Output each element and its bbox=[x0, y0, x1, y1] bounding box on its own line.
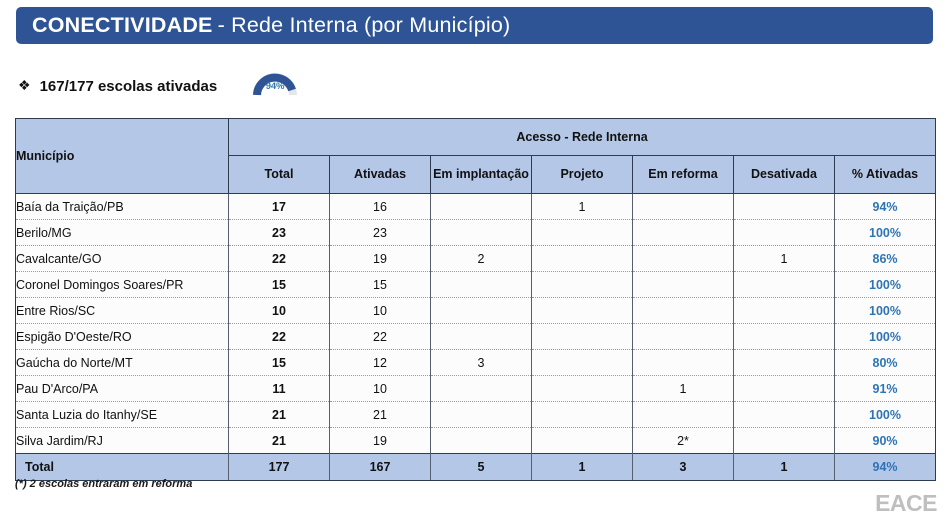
cell-em-implantacao: 2 bbox=[431, 246, 532, 272]
table-row[interactable]: Entre Rios/SC1010100% bbox=[16, 298, 936, 324]
gauge-label: 94% bbox=[252, 81, 298, 92]
diamond-bullet-icon: ❖ bbox=[18, 78, 31, 92]
cell-total: 10 bbox=[229, 298, 330, 324]
cell-ativadas: 19 bbox=[330, 428, 431, 454]
total-cell-em-implantacao: 5 bbox=[431, 454, 532, 481]
cell-total: 23 bbox=[229, 220, 330, 246]
cell-total: 22 bbox=[229, 324, 330, 350]
col-header-desativada[interactable]: Desativada bbox=[734, 155, 835, 193]
cell-total: 15 bbox=[229, 350, 330, 376]
cell-projeto bbox=[532, 246, 633, 272]
cell-pct-ativadas: 100% bbox=[835, 324, 936, 350]
total-cell-projeto: 1 bbox=[532, 454, 633, 481]
table-row[interactable]: Espigão D'Oeste/RO2222100% bbox=[16, 324, 936, 350]
cell-ativadas: 15 bbox=[330, 272, 431, 298]
total-cell-pct-ativadas: 94% bbox=[835, 454, 936, 481]
cell-pct-ativadas: 100% bbox=[835, 220, 936, 246]
cell-ativadas: 12 bbox=[330, 350, 431, 376]
cell-pct-ativadas: 100% bbox=[835, 402, 936, 428]
cell-desativada bbox=[734, 428, 835, 454]
total-cell-desativada: 1 bbox=[734, 454, 835, 481]
table-row[interactable]: Baía da Traição/PB1716194% bbox=[16, 194, 936, 220]
total-cell-em-reforma: 3 bbox=[633, 454, 734, 481]
cell-municipio: Berilo/MG bbox=[16, 220, 229, 246]
cell-total: 17 bbox=[229, 194, 330, 220]
slide-title-bar: CONECTIVIDADE - Rede Interna (por Municí… bbox=[16, 7, 933, 44]
cell-total: 21 bbox=[229, 402, 330, 428]
cell-ativadas: 21 bbox=[330, 402, 431, 428]
cell-ativadas: 10 bbox=[330, 376, 431, 402]
cell-desativada bbox=[734, 194, 835, 220]
cell-total: 11 bbox=[229, 376, 330, 402]
cell-em-reforma: 1 bbox=[633, 376, 734, 402]
col-header-pct-ativadas[interactable]: % Ativadas bbox=[835, 155, 936, 193]
cell-desativada: 1 bbox=[734, 246, 835, 272]
cell-em-reforma bbox=[633, 220, 734, 246]
page-title-subtitle: - Rede Interna (por Município) bbox=[218, 13, 511, 38]
cell-municipio: Entre Rios/SC bbox=[16, 298, 229, 324]
cell-ativadas: 10 bbox=[330, 298, 431, 324]
cell-pct-ativadas: 94% bbox=[835, 194, 936, 220]
col-header-total[interactable]: Total bbox=[229, 155, 330, 193]
cell-projeto bbox=[532, 324, 633, 350]
table-header-row-group: Município Acesso - Rede Interna bbox=[16, 119, 936, 156]
total-cell-ativadas: 167 bbox=[330, 454, 431, 481]
cell-em-implantacao: 3 bbox=[431, 350, 532, 376]
cell-pct-ativadas: 100% bbox=[835, 272, 936, 298]
cell-total: 15 bbox=[229, 272, 330, 298]
cell-em-implantacao bbox=[431, 194, 532, 220]
cell-projeto bbox=[532, 272, 633, 298]
col-header-municipio[interactable]: Município bbox=[16, 119, 229, 194]
cell-projeto bbox=[532, 428, 633, 454]
cell-em-reforma bbox=[633, 194, 734, 220]
cell-ativadas: 22 bbox=[330, 324, 431, 350]
cell-projeto bbox=[532, 376, 633, 402]
page-title-strong: CONECTIVIDADE bbox=[32, 13, 213, 38]
cell-desativada bbox=[734, 272, 835, 298]
connectivity-table: Município Acesso - Rede Interna Total At… bbox=[15, 118, 936, 481]
cell-ativadas: 16 bbox=[330, 194, 431, 220]
table-row[interactable]: Gaúcha do Norte/MT1512380% bbox=[16, 350, 936, 376]
cell-desativada bbox=[734, 376, 835, 402]
cell-projeto bbox=[532, 298, 633, 324]
cell-em-reforma bbox=[633, 350, 734, 376]
cell-em-implantacao bbox=[431, 324, 532, 350]
cell-municipio: Baía da Traição/PB bbox=[16, 194, 229, 220]
cell-desativada bbox=[734, 350, 835, 376]
col-header-ativadas[interactable]: Ativadas bbox=[330, 155, 431, 193]
cell-em-implantacao bbox=[431, 402, 532, 428]
cell-pct-ativadas: 80% bbox=[835, 350, 936, 376]
cell-em-implantacao bbox=[431, 428, 532, 454]
cell-municipio: Pau D'Arco/PA bbox=[16, 376, 229, 402]
cell-municipio: Santa Luzia do Itanhy/SE bbox=[16, 402, 229, 428]
cell-em-implantacao bbox=[431, 272, 532, 298]
table-row[interactable]: Cavalcante/GO22192186% bbox=[16, 246, 936, 272]
cell-projeto bbox=[532, 402, 633, 428]
table-row[interactable]: Santa Luzia do Itanhy/SE2121100% bbox=[16, 402, 936, 428]
cell-em-implantacao bbox=[431, 298, 532, 324]
cell-municipio: Gaúcha do Norte/MT bbox=[16, 350, 229, 376]
summary-bullet-row: ❖ 167/177 escolas ativadas bbox=[18, 72, 217, 100]
cell-pct-ativadas: 91% bbox=[835, 376, 936, 402]
footnote: (*) 2 escolas entraram em reforma bbox=[15, 478, 192, 490]
cell-total: 21 bbox=[229, 428, 330, 454]
col-header-projeto[interactable]: Projeto bbox=[532, 155, 633, 193]
cell-municipio: Coronel Domingos Soares/PR bbox=[16, 272, 229, 298]
cell-em-reforma bbox=[633, 246, 734, 272]
total-cell-municipio: Total bbox=[16, 454, 229, 481]
cell-em-reforma bbox=[633, 298, 734, 324]
cell-municipio: Silva Jardim/RJ bbox=[16, 428, 229, 454]
cell-desativada bbox=[734, 298, 835, 324]
table-row[interactable]: Pau D'Arco/PA1110191% bbox=[16, 376, 936, 402]
cell-projeto bbox=[532, 350, 633, 376]
cell-projeto: 1 bbox=[532, 194, 633, 220]
table-row[interactable]: Coronel Domingos Soares/PR1515100% bbox=[16, 272, 936, 298]
col-header-group-acesso: Acesso - Rede Interna bbox=[229, 119, 936, 156]
table-row[interactable]: Silva Jardim/RJ21192*90% bbox=[16, 428, 936, 454]
col-header-em-reforma[interactable]: Em reforma bbox=[633, 155, 734, 193]
cell-ativadas: 19 bbox=[330, 246, 431, 272]
cell-em-implantacao bbox=[431, 376, 532, 402]
cell-desativada bbox=[734, 402, 835, 428]
connectivity-table-container: Município Acesso - Rede Interna Total At… bbox=[15, 118, 935, 481]
cell-desativada bbox=[734, 220, 835, 246]
cell-total: 22 bbox=[229, 246, 330, 272]
total-cell-total: 177 bbox=[229, 454, 330, 481]
activation-gauge: 94% bbox=[252, 66, 298, 100]
cell-em-reforma bbox=[633, 402, 734, 428]
cell-em-reforma bbox=[633, 324, 734, 350]
slide-root: { "header": { "title_strong": "CONECTIVI… bbox=[0, 0, 949, 524]
table-total-row: Total177167513194% bbox=[16, 454, 936, 481]
cell-em-reforma bbox=[633, 272, 734, 298]
summary-text: 167/177 escolas ativadas bbox=[40, 78, 218, 95]
cell-municipio: Espigão D'Oeste/RO bbox=[16, 324, 229, 350]
table-row[interactable]: Berilo/MG2323100% bbox=[16, 220, 936, 246]
cell-em-reforma: 2* bbox=[633, 428, 734, 454]
cell-projeto bbox=[532, 220, 633, 246]
cell-pct-ativadas: 86% bbox=[835, 246, 936, 272]
table-head: Município Acesso - Rede Interna Total At… bbox=[16, 119, 936, 194]
cell-municipio: Cavalcante/GO bbox=[16, 246, 229, 272]
cell-ativadas: 23 bbox=[330, 220, 431, 246]
cell-pct-ativadas: 90% bbox=[835, 428, 936, 454]
eace-logo: EACE bbox=[875, 490, 937, 517]
cell-desativada bbox=[734, 324, 835, 350]
cell-pct-ativadas: 100% bbox=[835, 298, 936, 324]
col-header-em-implantacao[interactable]: Em implantação bbox=[431, 155, 532, 193]
table-body: Baía da Traição/PB1716194%Berilo/MG23231… bbox=[16, 194, 936, 481]
cell-em-implantacao bbox=[431, 220, 532, 246]
